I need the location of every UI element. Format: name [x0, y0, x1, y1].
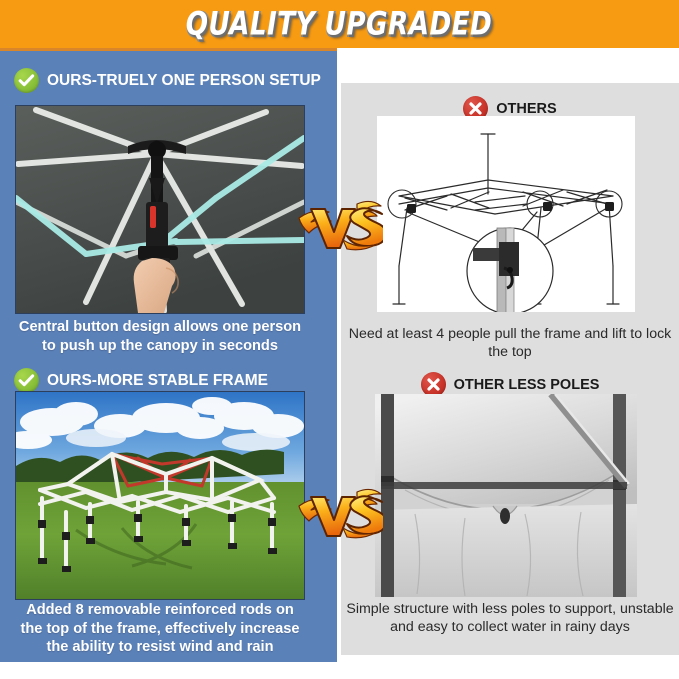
others-setup-image [377, 116, 635, 312]
ours-setup-caption: Central button design allows one person … [14, 318, 306, 355]
others-frame-image [375, 394, 637, 597]
others-setup-caption: Need at least 4 people pull the frame an… [345, 325, 675, 361]
ours-setup-image [15, 105, 305, 314]
check-circle-icon [14, 68, 39, 93]
ours-frame-heading-label: OURS-MORE STABLE FRAME [47, 372, 268, 390]
others-setup-heading-label: OTHERS [496, 101, 556, 117]
ours-frame-image [15, 391, 305, 600]
page-title: QUALITY UPGRADED [186, 6, 493, 43]
ours-setup-heading-label: OURS-TRUELY ONE PERSON SETUP [47, 72, 321, 90]
ours-frame-caption: Added 8 removable reinforced rods on the… [14, 601, 306, 657]
others-frame-caption: Simple structure with less poles to supp… [345, 600, 675, 636]
ours-setup-heading: OURS-TRUELY ONE PERSON SETUP [14, 68, 321, 93]
page-banner: QUALITY UPGRADED [0, 0, 679, 48]
check-circle-icon [14, 368, 39, 393]
ours-frame-heading: OURS-MORE STABLE FRAME [14, 368, 268, 393]
others-frame-heading-label: OTHER LESS POLES [454, 377, 600, 393]
